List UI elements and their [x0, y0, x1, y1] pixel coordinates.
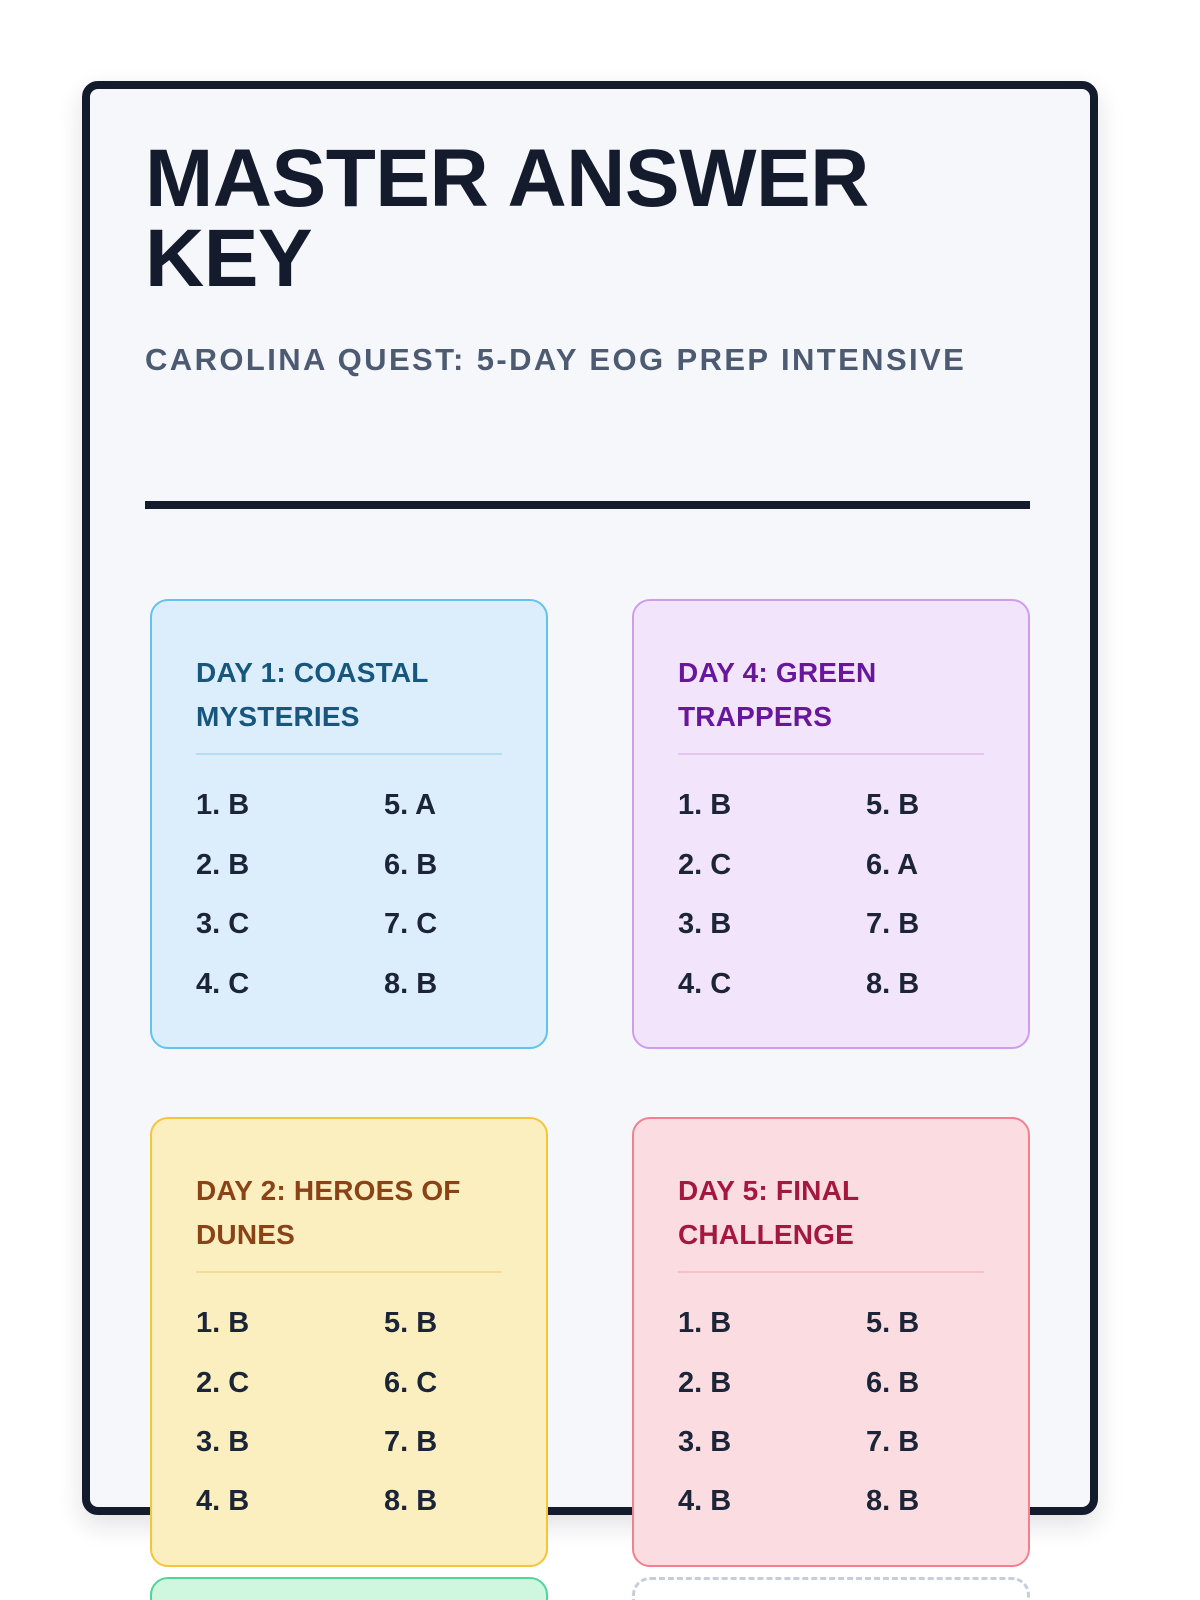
answer-item: 8. B [384, 1485, 502, 1518]
answer-card-day-1: DAY 1: COASTAL MYSTERIES 1. B 5. A 2. B … [150, 599, 548, 1049]
answer-item: 8. B [866, 1485, 984, 1518]
answer-item: 5. A [384, 789, 502, 822]
answer-item: 3. B [196, 1426, 384, 1459]
answer-list: 1. B 5. B 2. C 6. C 3. B 7. B 4. B 8. B [196, 1307, 502, 1518]
answer-card-stub-dashed [632, 1577, 1030, 1600]
answer-item: 4. C [196, 968, 384, 1001]
answer-item: 4. B [196, 1485, 384, 1518]
answer-item: 2. C [196, 1367, 384, 1400]
answer-item: 7. B [384, 1426, 502, 1459]
answer-item: 8. B [384, 968, 502, 1001]
card-title-divider [196, 1271, 502, 1273]
answer-item: 5. B [866, 789, 984, 822]
answer-item: 2. B [196, 849, 384, 882]
answer-item: 3. C [196, 908, 384, 941]
answer-item: 6. B [866, 1367, 984, 1400]
answer-item: 5. B [384, 1307, 502, 1340]
card-title-divider [196, 753, 502, 755]
answer-item: 5. B [866, 1307, 984, 1340]
answer-list: 1. B 5. B 2. C 6. A 3. B 7. B 4. C 8. B [678, 789, 984, 1000]
answer-key-sheet: MASTER ANSWER KEY CAROLINA QUEST: 5-DAY … [82, 81, 1098, 1515]
answer-key-page: MASTER ANSWER KEY CAROLINA QUEST: 5-DAY … [0, 0, 1200, 1600]
answer-item: 7. B [866, 1426, 984, 1459]
answer-item: 6. C [384, 1367, 502, 1400]
answer-card-title: DAY 2: HEROES OF DUNES [196, 1169, 502, 1271]
answer-card-day-2: DAY 2: HEROES OF DUNES 1. B 5. B 2. C 6.… [150, 1117, 548, 1567]
next-row-preview [150, 1577, 1040, 1600]
header-divider [145, 501, 1030, 509]
answer-item: 1. B [678, 789, 866, 822]
answer-list: 1. B 5. A 2. B 6. B 3. C 7. C 4. C 8. B [196, 789, 502, 1000]
answer-item: 6. A [866, 849, 984, 882]
answer-item: 2. C [678, 849, 866, 882]
answer-item: 6. B [384, 849, 502, 882]
answer-card-grid: DAY 1: COASTAL MYSTERIES 1. B 5. A 2. B … [150, 599, 1040, 1567]
answer-item: 1. B [196, 789, 384, 822]
page-subtitle: CAROLINA QUEST: 5-DAY EOG PREP INTENSIVE [145, 334, 975, 387]
card-title-divider [678, 753, 984, 755]
answer-item: 4. C [678, 968, 866, 1001]
answer-item: 7. C [384, 908, 502, 941]
answer-item: 2. B [678, 1367, 866, 1400]
card-title-divider [678, 1271, 984, 1273]
answer-item: 8. B [866, 968, 984, 1001]
answer-item: 4. B [678, 1485, 866, 1518]
answer-card-title: DAY 4: GREEN TRAPPERS [678, 651, 984, 753]
answer-item: 1. B [678, 1307, 866, 1340]
answer-card-title: DAY 1: COASTAL MYSTERIES [196, 651, 502, 753]
answer-item: 3. B [678, 1426, 866, 1459]
answer-card-day-5: DAY 5: FINAL CHALLENGE 1. B 5. B 2. B 6.… [632, 1117, 1030, 1567]
answer-item: 1. B [196, 1307, 384, 1340]
page-title: MASTER ANSWER KEY [145, 139, 1045, 300]
answer-card-day-4: DAY 4: GREEN TRAPPERS 1. B 5. B 2. C 6. … [632, 599, 1030, 1049]
answer-card-title: DAY 5: FINAL CHALLENGE [678, 1169, 984, 1271]
answer-card-stub-green [150, 1577, 548, 1600]
document-header: MASTER ANSWER KEY CAROLINA QUEST: 5-DAY … [145, 139, 1045, 386]
answer-list: 1. B 5. B 2. B 6. B 3. B 7. B 4. B 8. B [678, 1307, 984, 1518]
answer-item: 3. B [678, 908, 866, 941]
answer-item: 7. B [866, 908, 984, 941]
